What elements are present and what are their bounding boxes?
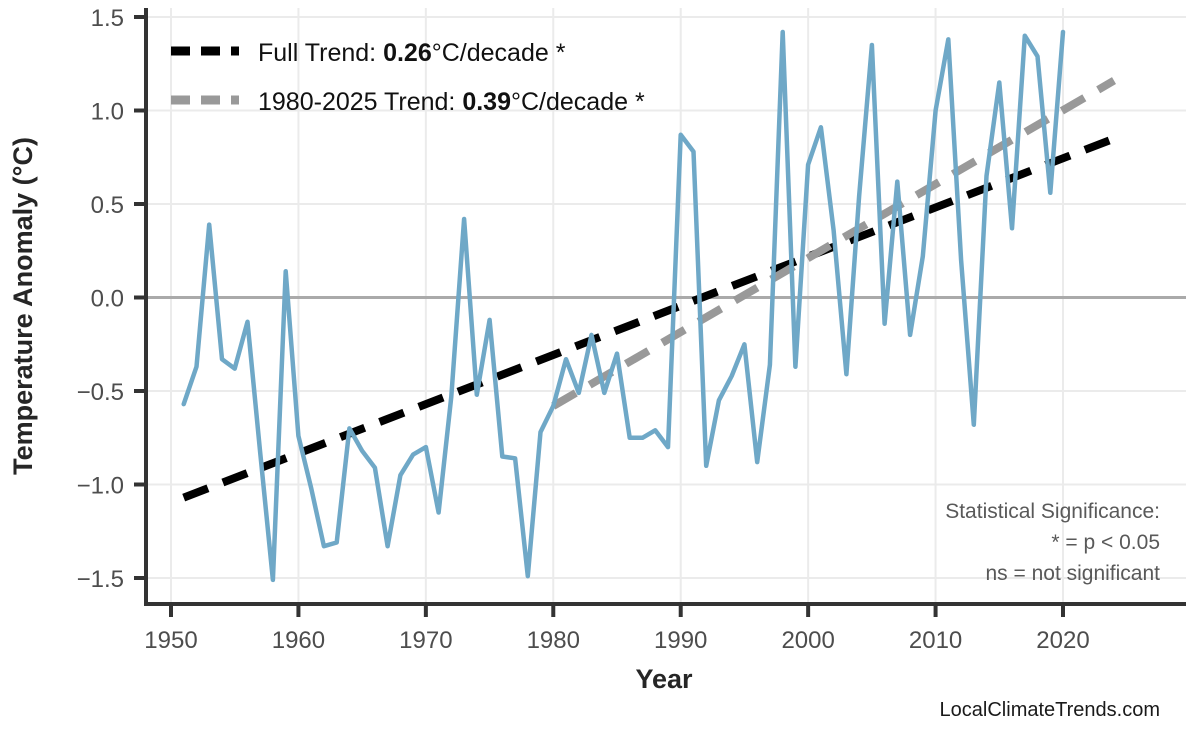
x-tick-label: 2020 bbox=[1036, 627, 1089, 654]
legend-label-recent-trend: 1980-2025 Trend: 0.39°C/decade * bbox=[258, 88, 645, 116]
chart-container: 1.51.00.50.0−0.5−1.0−1.5 195019601970198… bbox=[0, 0, 1186, 737]
temperature-anomaly-line-chart: 1.51.00.50.0−0.5−1.0−1.5 195019601970198… bbox=[0, 0, 1186, 737]
y-tick-label: −1.0 bbox=[77, 473, 124, 500]
x-tick-label: 1950 bbox=[144, 627, 197, 654]
x-tick-label: 2010 bbox=[909, 627, 962, 654]
x-tick-label: 2000 bbox=[781, 627, 834, 654]
y-tick-label: 1.0 bbox=[91, 99, 124, 126]
y-tick-label: −0.5 bbox=[77, 379, 124, 406]
y-tick-label: 0.0 bbox=[91, 286, 124, 313]
y-tick-label: −1.5 bbox=[77, 566, 124, 593]
y-tick-label: 0.5 bbox=[91, 192, 124, 219]
x-tick-label: 1960 bbox=[272, 627, 325, 654]
x-axis-title: Year bbox=[635, 664, 693, 694]
site-credit: LocalClimateTrends.com bbox=[940, 699, 1160, 721]
annotation-line-3: ns = not significant bbox=[985, 562, 1160, 585]
x-tick-label: 1980 bbox=[527, 627, 580, 654]
annotation-line-1: Statistical Significance: bbox=[945, 500, 1160, 523]
annotation-line-2: * = p < 0.05 bbox=[1051, 531, 1160, 554]
legend-label-full-trend: Full Trend: 0.26°C/decade * bbox=[258, 39, 566, 67]
x-tick-label: 1990 bbox=[654, 627, 707, 654]
x-tick-label: 1970 bbox=[399, 627, 452, 654]
y-axis-title: Temperature Anomaly (°C) bbox=[8, 137, 38, 475]
y-tick-label: 1.5 bbox=[91, 5, 124, 32]
